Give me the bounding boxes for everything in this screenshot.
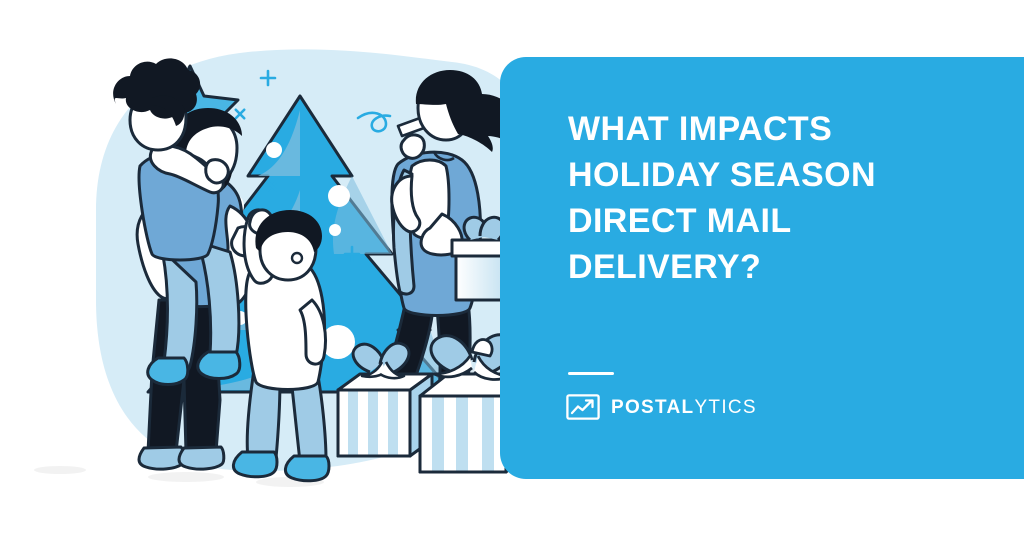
brand-name-bold: POSTAL bbox=[611, 397, 694, 418]
envelope-chart-icon bbox=[566, 394, 600, 420]
page-title: WHAT IMPACTS HOLIDAY SEASON DIRECT MAIL … bbox=[568, 106, 988, 290]
brand-logo[interactable]: POSTALYTICS bbox=[566, 394, 757, 420]
title-divider bbox=[568, 372, 614, 375]
brand-name: POSTALYTICS bbox=[611, 398, 757, 417]
brand-name-light: YTICS bbox=[694, 397, 756, 418]
banner-canvas: WHAT IMPACTS HOLIDAY SEASON DIRECT MAIL … bbox=[0, 0, 1024, 536]
